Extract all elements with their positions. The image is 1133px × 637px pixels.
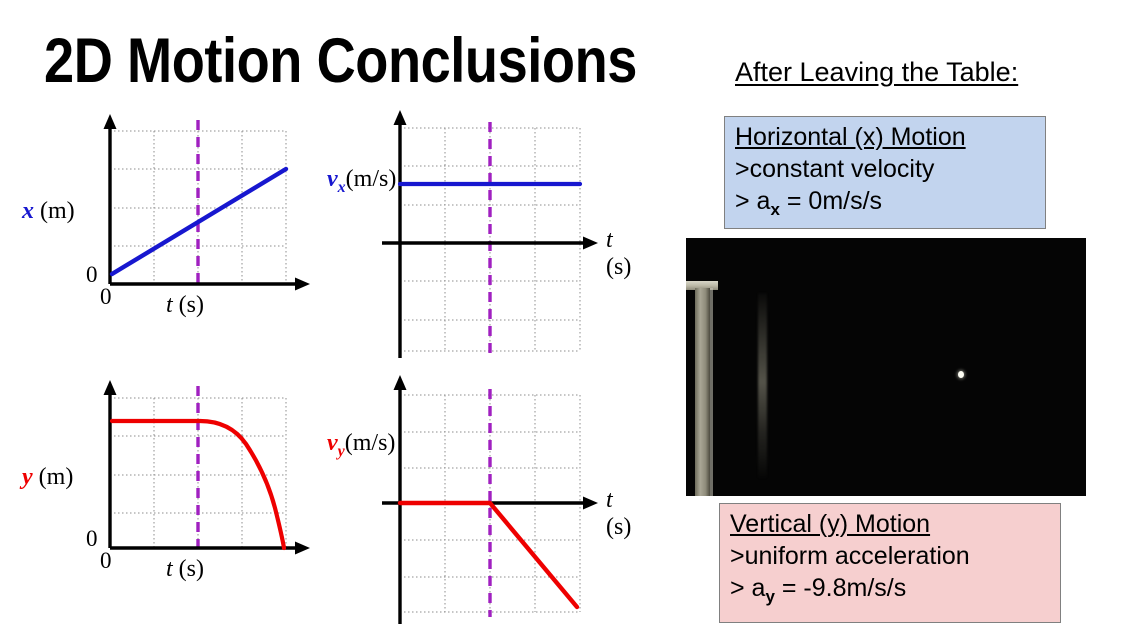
x-axis-arrow	[295, 278, 310, 291]
horizontal-motion-line2: >constant velocity	[735, 153, 1035, 185]
x-axis-arrow	[583, 497, 598, 510]
vertical-motion-title: Vertical (y) Motion	[730, 508, 930, 540]
x-axis-label-t: t (s)	[166, 292, 204, 319]
x-axis-arrow	[583, 237, 598, 250]
table-leg-highlight	[710, 288, 713, 496]
y-origin-tick: 0	[86, 526, 98, 552]
projectile-photo	[686, 238, 1086, 496]
chart-velocity-x-vs-t-svg	[330, 108, 630, 363]
x-axis-label-t: t (s)	[606, 487, 631, 541]
horizontal-accel-value: = 0m/s/s	[780, 187, 882, 215]
y-axis-label-vy: vy(m/s)	[327, 430, 395, 461]
ball-highlight	[958, 371, 964, 378]
vertical-motion-line2: >uniform acceleration	[730, 540, 1050, 572]
axes	[110, 390, 298, 548]
horizontal-motion-line3: > ax = 0m/s/s	[735, 185, 1035, 226]
y-axis-label-vx: vx(m/s)	[327, 166, 396, 197]
x-axis-label-t: t (s)	[166, 556, 204, 583]
horizontal-motion-title: Horizontal (x) Motion	[735, 121, 966, 153]
horizontal-accel-subscript: x	[770, 200, 779, 219]
y-axis-arrow	[104, 380, 117, 395]
background-vertical-stripe	[758, 293, 767, 478]
y-axis-arrow	[104, 114, 117, 129]
x-origin-tick: 0	[100, 548, 112, 574]
page-title: 2D Motion Conclusions	[44, 28, 637, 94]
horizontal-motion-box: Horizontal (x) Motion >constant velocity…	[724, 116, 1046, 229]
chart-velocity-x-vs-t: vx(m/s) t (s)	[330, 108, 630, 363]
table-leg	[695, 288, 710, 496]
vertical-accel-prefix: > a	[730, 574, 765, 602]
chart-position-y-vs-t: y (m) 0 0 t (s)	[70, 378, 330, 573]
y-axis-label-x: x (m)	[22, 198, 75, 225]
chart-velocity-y-vs-t: vy(m/s) t (s)	[330, 372, 630, 634]
vertical-motion-line3: > ay = -9.8m/s/s	[730, 572, 1050, 613]
slide-canvas: 2D Motion Conclusions After Leaving the …	[0, 0, 1133, 637]
x-axis-arrow	[295, 542, 310, 555]
chart-position-x-vs-t-svg	[70, 112, 330, 307]
chart-position-y-vs-t-svg	[70, 378, 330, 573]
vertical-accel-subscript: y	[765, 587, 774, 606]
x-axis-label-t: t (s)	[606, 227, 631, 281]
x-origin-tick: 0	[100, 284, 112, 310]
y-origin-tick: 0	[86, 262, 98, 288]
y-axis-label-y: y (m)	[22, 464, 73, 491]
after-leaving-heading: After Leaving the Table:	[735, 57, 1018, 88]
axes	[382, 120, 585, 358]
horizontal-accel-prefix: > a	[735, 187, 770, 215]
y-axis-arrow	[394, 375, 407, 390]
y-axis-arrow	[394, 110, 407, 125]
vertical-accel-value: = -9.8m/s/s	[775, 574, 906, 602]
chart-position-x-vs-t: x (m) 0 0 t (s)	[70, 112, 330, 307]
series-vy-of-t	[400, 503, 577, 607]
chart-velocity-y-vs-t-svg	[330, 372, 630, 634]
vertical-motion-box: Vertical (y) Motion >uniform acceleratio…	[719, 503, 1061, 623]
